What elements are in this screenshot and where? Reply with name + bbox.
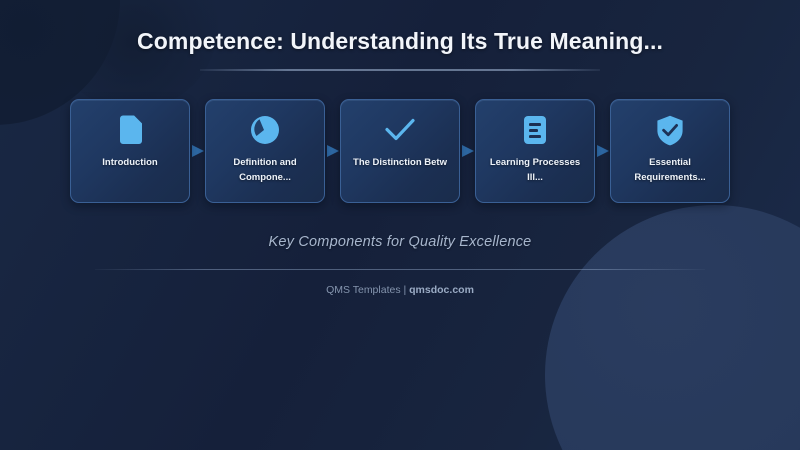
title-divider	[200, 69, 600, 71]
flow-step-card[interactable]: Definition and Compone...	[205, 99, 325, 203]
flow-step-card[interactable]: The Distinction Betw	[340, 99, 460, 203]
slide-header: Competence: Understanding Its True Meani…	[0, 28, 800, 71]
flow-step-label: Introduction	[78, 156, 182, 171]
flow-step-card[interactable]: Essential Requirements...	[610, 99, 730, 203]
page-title: Competence: Understanding Its True Meani…	[0, 28, 800, 56]
flow-step-label: The Distinction Betw	[348, 156, 452, 171]
flow-step-label: Definition and Compone...	[213, 156, 317, 185]
pie-chart-icon	[250, 113, 280, 147]
flow-step-card[interactable]: Learning Processes Ill...	[475, 99, 595, 203]
shield-check-icon	[656, 113, 684, 147]
document-icon	[117, 113, 143, 147]
footer-divider	[95, 269, 705, 270]
flow-step-label: Learning Processes Ill...	[483, 156, 587, 185]
arrow-right-icon	[190, 144, 205, 158]
process-flow: IntroductionDefinition and Compone...The…	[0, 96, 800, 206]
footer-brand[interactable]: qmsdoc.com	[409, 284, 474, 296]
footer-prefix: QMS Templates |	[326, 284, 409, 296]
slide-canvas: Competence: Understanding Its True Meani…	[0, 0, 800, 450]
slide-subtitle: Key Components for Quality Excellence	[0, 234, 800, 250]
slide-footer: QMS Templates | qmsdoc.com	[0, 284, 800, 296]
check-icon	[384, 113, 416, 147]
arrow-right-icon	[325, 144, 340, 158]
flow-step-label: Essential Requirements...	[618, 156, 722, 185]
list-document-icon	[522, 113, 548, 147]
flow-step-card[interactable]: Introduction	[70, 99, 190, 203]
arrow-right-icon	[595, 144, 610, 158]
arrow-right-icon	[460, 144, 475, 158]
